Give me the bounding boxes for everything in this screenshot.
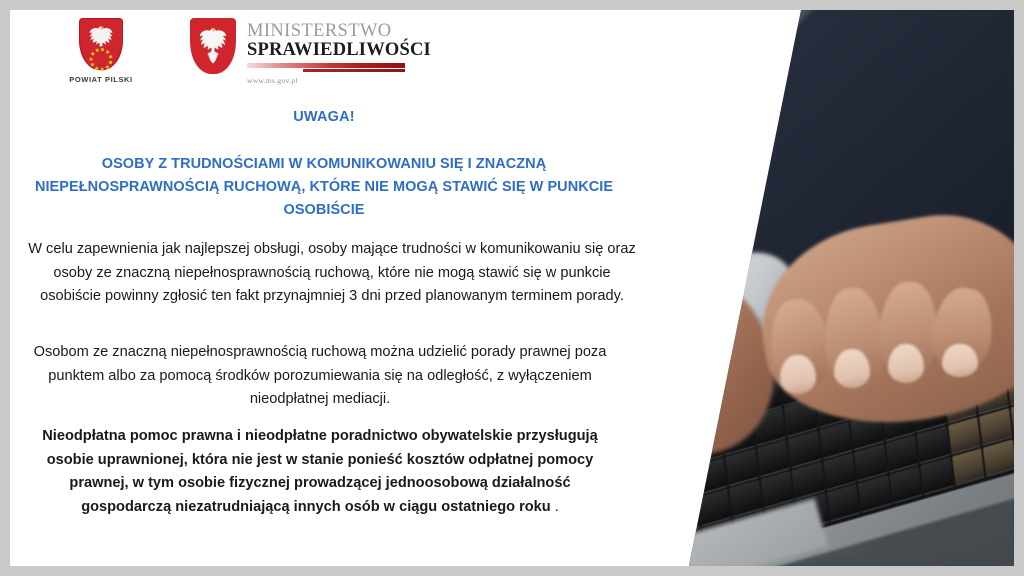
slide: POWIAT PILSKI MINISTERSTWO SPRAWIEDLIWOŚ… bbox=[0, 0, 1024, 576]
alert-heading: UWAGA! bbox=[10, 109, 638, 125]
photo-keyboard-key bbox=[663, 467, 696, 504]
white-eagle-icon bbox=[84, 25, 118, 49]
ministry-website-url: www.ms.gov.pl bbox=[247, 76, 431, 85]
ministry-wordmark: MINISTERSTWO SPRAWIEDLIWOŚCI www.ms.gov.… bbox=[247, 18, 431, 85]
polish-eagle-shield-icon bbox=[190, 18, 236, 74]
photo-keyboard-key bbox=[686, 395, 719, 432]
text-content-column: POWIAT PILSKI MINISTERSTWO SPRAWIEDLIWOŚ… bbox=[10, 10, 650, 566]
photo-keyboard-key bbox=[667, 498, 700, 535]
photo-keyboard-key bbox=[889, 467, 922, 504]
paragraph-eligibility: Nieodpłatna pomoc prawna i nieodpłatne p… bbox=[26, 425, 614, 520]
logo-row: POWIAT PILSKI MINISTERSTWO SPRAWIEDLIWOŚ… bbox=[58, 18, 431, 85]
ministerstwo-sprawiedliwosci-logo: MINISTERSTWO SPRAWIEDLIWOŚCI www.ms.gov.… bbox=[190, 18, 431, 85]
photo-keyboard-key bbox=[827, 485, 860, 522]
photo-keyboard-key bbox=[858, 476, 891, 513]
photo-keyboard-key bbox=[952, 449, 985, 486]
photo-keyboard-key bbox=[651, 373, 684, 410]
photo-keyboard-key bbox=[683, 364, 716, 401]
photo-keyboard-key bbox=[921, 458, 954, 495]
paragraph-eligibility-bold: Nieodpłatna pomoc prawna i nieodpłatne p… bbox=[42, 428, 597, 515]
ministry-red-bar-secondary bbox=[303, 69, 405, 72]
main-heading: OSOBY Z TRUDNOŚCIAMI W KOMUNIKOWANIU SIĘ… bbox=[24, 153, 624, 222]
polish-white-eagle-icon bbox=[195, 26, 231, 66]
powiat-pilski-label: POWIAT PILSKI bbox=[69, 75, 133, 84]
paragraph-notice-advance: W celu zapewnienia jak najlepszej obsług… bbox=[26, 238, 638, 309]
ministry-line-1: MINISTERSTWO bbox=[247, 22, 431, 41]
powiat-pilski-coat-of-arms: POWIAT PILSKI bbox=[58, 18, 144, 84]
photo-fingernail-2 bbox=[834, 349, 870, 388]
photo-fingernail-1 bbox=[780, 355, 816, 394]
photo-keyboard-key bbox=[655, 404, 688, 441]
golden-ring-icon bbox=[90, 48, 113, 71]
powiat-shield-icon bbox=[79, 18, 123, 70]
ministry-line-2: SPRAWIEDLIWOŚCI bbox=[247, 41, 431, 60]
ministry-red-bar bbox=[247, 63, 405, 68]
photo-fingernail-3 bbox=[888, 344, 924, 383]
slide-canvas: POWIAT PILSKI MINISTERSTWO SPRAWIEDLIWOŚ… bbox=[10, 10, 1014, 566]
paragraph-eligibility-tail: . bbox=[551, 499, 559, 515]
photo-keyboard-key bbox=[983, 440, 1014, 477]
photo-keyboard-key bbox=[659, 435, 692, 472]
paragraph-remote-advice: Osobom ze znaczną niepełnosprawnością ru… bbox=[26, 341, 614, 412]
photo-fingernail-4 bbox=[942, 344, 978, 377]
